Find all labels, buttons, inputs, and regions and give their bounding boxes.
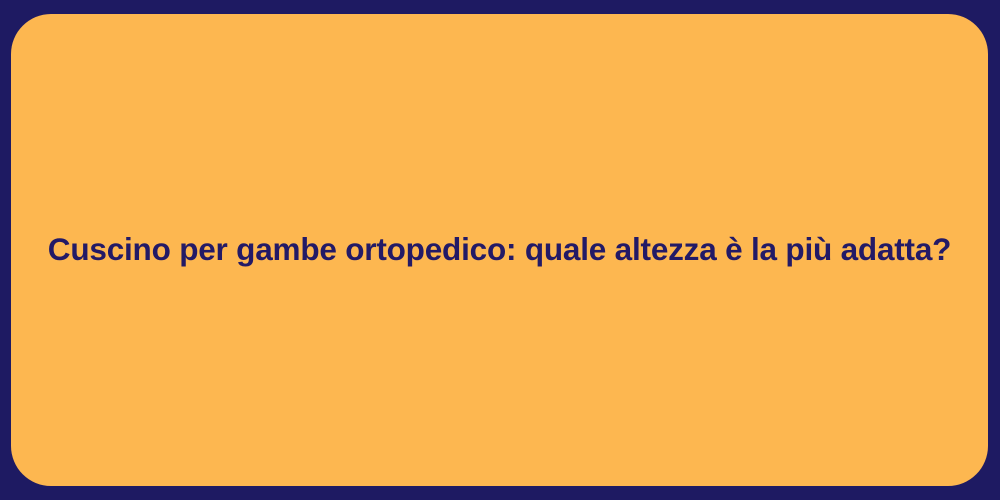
title-card-panel: Cuscino per gambe ortopedico: quale alte… — [11, 14, 988, 486]
card-border-frame: Cuscino per gambe ortopedico: quale alte… — [0, 0, 1000, 500]
page-title: Cuscino per gambe ortopedico: quale alte… — [48, 230, 951, 269]
